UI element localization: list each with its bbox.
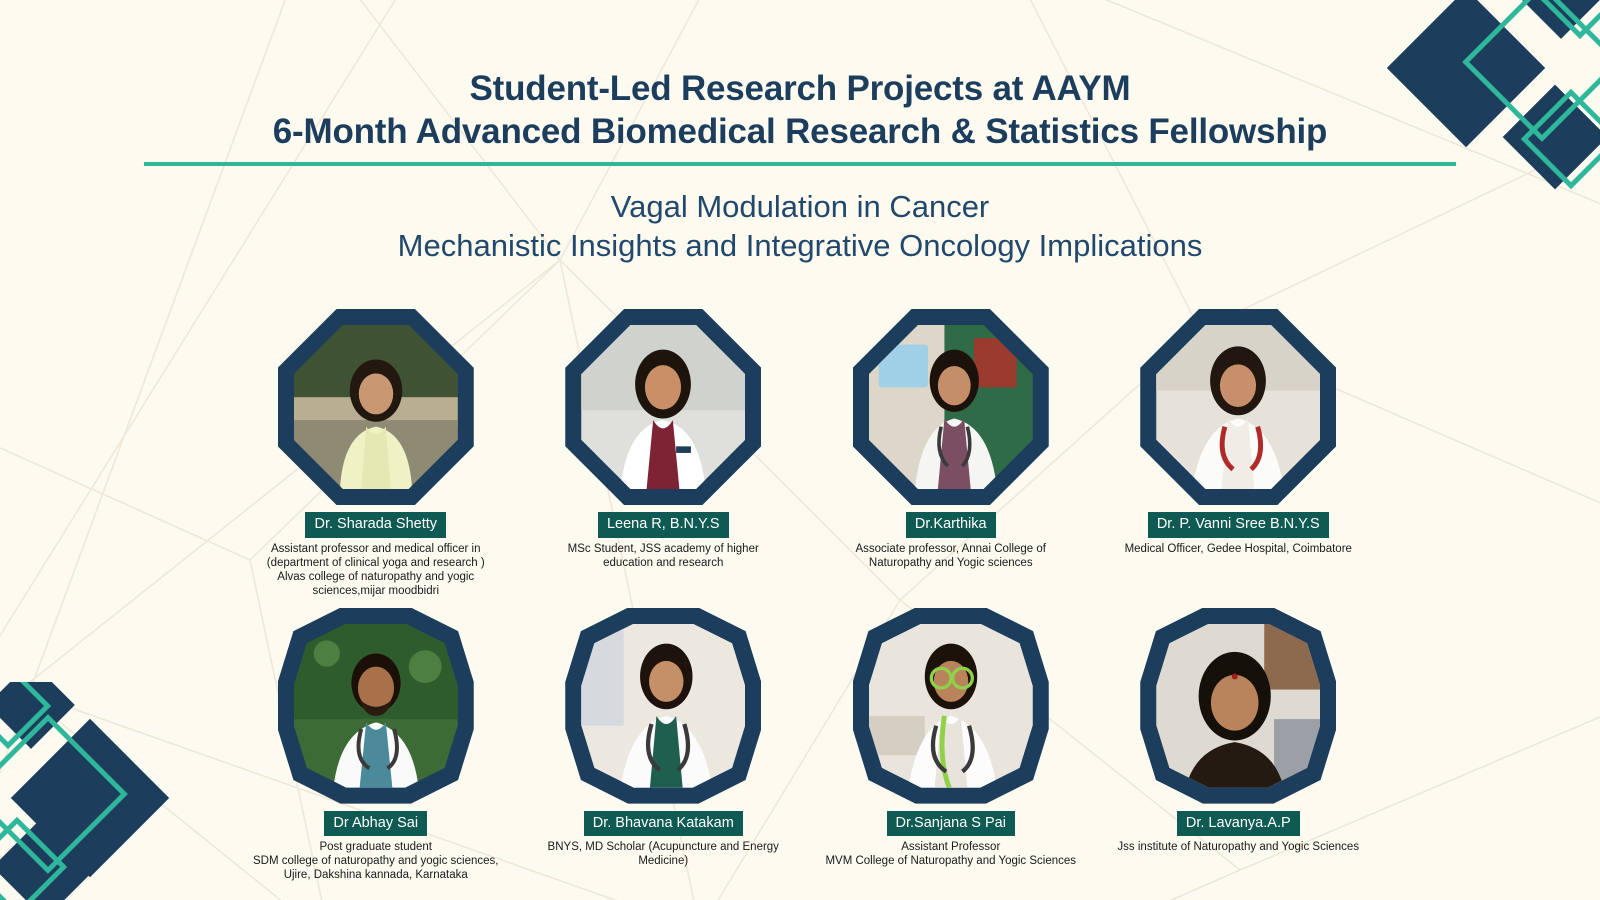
presenter-photo-frame (851, 307, 1051, 507)
presenter-affiliation: Associate professor, Annai College of Na… (855, 542, 1046, 570)
portrait-lavanya-ap (1156, 624, 1320, 788)
affiliation-line: MSc Student, JSS academy of higher (568, 542, 759, 556)
presenter-name-badge: Dr. Sharada Shetty (305, 512, 446, 538)
affiliation-line: Associate professor, Annai College of (855, 542, 1046, 556)
presenter-card: Leena R, B.N.Y.S MSc Student, JSS academ… (520, 307, 808, 598)
affiliation-line: Jss institute of Naturopathy and Yogic S… (1117, 840, 1359, 854)
presenter-affiliation: Post graduate student SDM college of nat… (253, 840, 498, 882)
page-title-line-1: Student-Led Research Projects at AAYM (0, 68, 1600, 111)
presenter-photo-frame (563, 307, 763, 507)
title-underline-rule (144, 162, 1456, 166)
poster-subtitle: Vagal Modulation in Cancer Mechanistic I… (0, 187, 1600, 265)
portrait-leena-r (581, 325, 745, 489)
affiliation-line: Ujire, Dakshina kannada, Karnataka (253, 868, 498, 882)
presenter-card: Dr. P. Vanni Sree B.N.Y.S Medical Office… (1095, 307, 1383, 598)
poster-header: Student-Led Research Projects at AAYM 6-… (0, 68, 1600, 265)
presenter-affiliation: BNYS, MD Scholar (Acupuncture and Energy… (548, 840, 779, 868)
presenter-photo-frame (276, 307, 476, 507)
presenter-name-badge: Dr.Sanjana S Pai (887, 811, 1015, 837)
affiliation-line: Assistant professor and medical officer … (267, 542, 485, 556)
affiliation-line: Alvas college of naturopathy and yogic (267, 570, 485, 584)
presenter-name-badge: Dr Abhay Sai (324, 811, 427, 837)
presenter-name-badge: Dr.Karthika (906, 512, 996, 538)
presenter-card: Dr. Sharada Shetty Assistant professor a… (232, 307, 520, 598)
presenter-photo-frame (276, 606, 476, 806)
affiliation-line: education and research (568, 556, 759, 570)
presenter-card: Dr. Bhavana Katakam BNYS, MD Scholar (Ac… (520, 606, 808, 883)
presenter-photo-frame (1138, 606, 1338, 806)
portrait-sharada-shetty (294, 325, 458, 489)
affiliation-line: MVM College of Naturopathy and Yogic Sci… (825, 854, 1076, 868)
presenter-name-badge: Dr. Lavanya.A.P (1177, 811, 1300, 837)
presenter-affiliation: Assistant professor and medical officer … (267, 542, 485, 598)
presenter-affiliation: Jss institute of Naturopathy and Yogic S… (1117, 840, 1359, 854)
affiliation-line: sciences,mijar moodbidri (267, 584, 485, 598)
subtitle-line-1: Vagal Modulation in Cancer (0, 187, 1600, 226)
portrait-karthika (869, 325, 1033, 489)
affiliation-line: SDM college of naturopathy and yogic sci… (253, 854, 498, 868)
presenter-card: Dr. Lavanya.A.P Jss institute of Naturop… (1095, 606, 1383, 883)
presenter-card: Dr.Sanjana S Pai Assistant Professor MVM… (807, 606, 1095, 883)
portrait-sanjana-s-pai (869, 624, 1033, 788)
presenter-affiliation: Medical Officer, Gedee Hospital, Coimbat… (1125, 542, 1352, 556)
presenter-photo-frame (563, 606, 763, 806)
presenter-affiliation: MSc Student, JSS academy of higher educa… (568, 542, 759, 570)
decorative-diamonds-bottom-left (0, 682, 216, 900)
presenter-photo-frame (851, 606, 1051, 806)
presenter-photo-frame (1138, 307, 1338, 507)
affiliation-line: Assistant Professor (825, 840, 1076, 854)
presenter-card: Dr Abhay Sai Post graduate student SDM c… (232, 606, 520, 883)
affiliation-line: (department of clinical yoga and researc… (267, 556, 485, 570)
affiliation-line: Post graduate student (253, 840, 498, 854)
portrait-bhavana-katakam (581, 624, 745, 788)
affiliation-line: Medicine) (548, 854, 779, 868)
presenter-name-badge: Dr. Bhavana Katakam (584, 811, 743, 837)
presenter-name-badge: Dr. P. Vanni Sree B.N.Y.S (1148, 512, 1329, 538)
portrait-abhay-sai (294, 624, 458, 788)
page-title-line-2: 6-Month Advanced Biomedical Research & S… (0, 111, 1600, 154)
presenters-grid: Dr. Sharada Shetty Assistant professor a… (232, 307, 1382, 882)
affiliation-line: Naturopathy and Yogic sciences (855, 556, 1046, 570)
poster-canvas: Student-Led Research Projects at AAYM 6-… (0, 0, 1600, 900)
presenter-affiliation: Assistant Professor MVM College of Natur… (825, 840, 1076, 868)
presenter-name-badge: Leena R, B.N.Y.S (598, 512, 729, 538)
subtitle-line-2: Mechanistic Insights and Integrative Onc… (0, 226, 1600, 265)
affiliation-line: BNYS, MD Scholar (Acupuncture and Energy (548, 840, 779, 854)
affiliation-line: Medical Officer, Gedee Hospital, Coimbat… (1125, 542, 1352, 556)
presenter-card: Dr.Karthika Associate professor, Annai C… (807, 307, 1095, 598)
portrait-p-vanni-sree (1156, 325, 1320, 489)
